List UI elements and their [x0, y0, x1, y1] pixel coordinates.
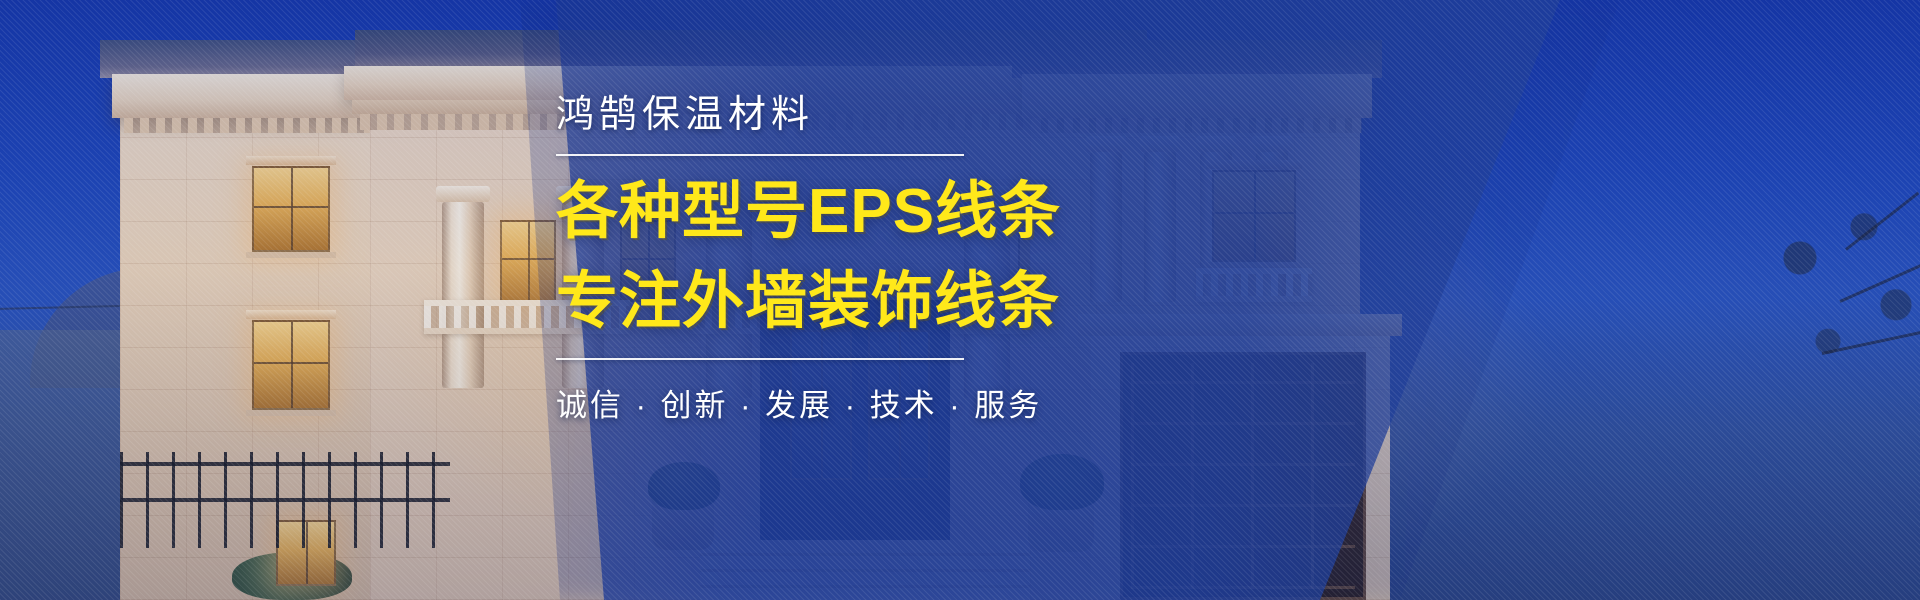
portico-column	[442, 202, 484, 388]
divider-top	[556, 154, 964, 156]
divider-bottom	[556, 358, 964, 360]
window-sill	[246, 252, 336, 258]
window-upper-left	[252, 166, 330, 252]
tagline: 诚信 · 创新 · 发展 · 技术 · 服务	[556, 380, 1456, 425]
window-lower-left	[252, 320, 330, 410]
promo-banner: 鸿鹄保温材料 各种型号EPS线条 专注外墙装饰线条 诚信 · 创新 · 发展 ·…	[0, 0, 1920, 600]
banner-text-block: 鸿鹄保温材料 各种型号EPS线条 专注外墙装饰线条 诚信 · 创新 · 发展 ·…	[556, 96, 1456, 425]
window-head	[246, 310, 336, 319]
column-capital	[436, 186, 490, 202]
distant-building	[0, 330, 120, 600]
headline-line-1: 各种型号EPS线条	[556, 178, 1456, 246]
iron-fence	[120, 452, 450, 548]
window-mullion-horizontal	[254, 362, 328, 364]
window-sill	[246, 410, 336, 416]
window-mullion-vertical	[291, 322, 293, 408]
window-mullion-horizontal	[254, 206, 328, 208]
window-mullion-vertical	[528, 222, 530, 300]
window-mullion-vertical	[291, 168, 293, 250]
window-head	[246, 156, 336, 165]
brand-name: 鸿鹄保温材料	[556, 96, 1456, 134]
headline-line-2: 专注外墙装饰线条	[556, 268, 1456, 336]
tree-foliage	[1740, 180, 1920, 440]
